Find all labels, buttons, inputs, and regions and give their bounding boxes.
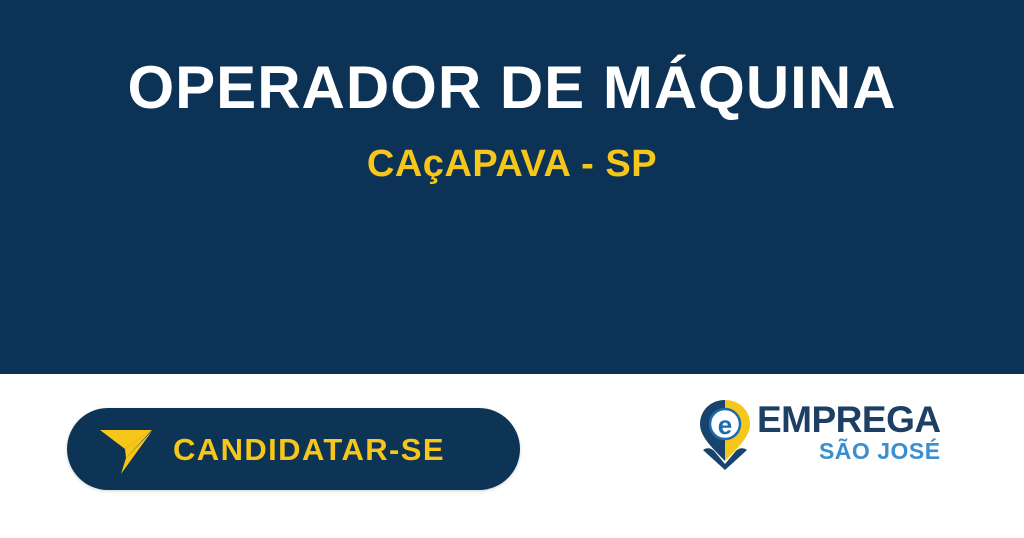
- hero-band: OPERADOR DE MÁQUINA CAçAPAVA - SP: [0, 0, 1024, 374]
- brand-wordmark: EMPREGA SÃO JOSÉ: [753, 396, 941, 464]
- svg-text:e: e: [718, 410, 732, 440]
- brand-subtitle: SÃO JOSÉ: [757, 438, 941, 464]
- page-title: OPERADOR DE MÁQUINA: [0, 56, 1024, 120]
- apply-button-label: CANDIDATAR-SE: [173, 434, 445, 465]
- apply-button[interactable]: CANDIDATAR-SE: [67, 408, 520, 490]
- brand-logo: e EMPREGA SÃO JOSÉ: [697, 396, 937, 474]
- brand-name: EMPREGA: [757, 402, 941, 438]
- job-vacancy-poster: OPERADOR DE MÁQUINA CAçAPAVA - SP CANDID…: [0, 0, 1024, 538]
- action-band: CANDIDATAR-SE e: [0, 374, 1024, 538]
- map-pin-e-icon: e: [697, 398, 753, 470]
- job-location-text: CAçAPAVA - SP: [0, 120, 1024, 185]
- hero-content: OPERADOR DE MÁQUINA CAçAPAVA - SP: [0, 0, 1024, 185]
- paper-plane-send-icon: [95, 418, 157, 480]
